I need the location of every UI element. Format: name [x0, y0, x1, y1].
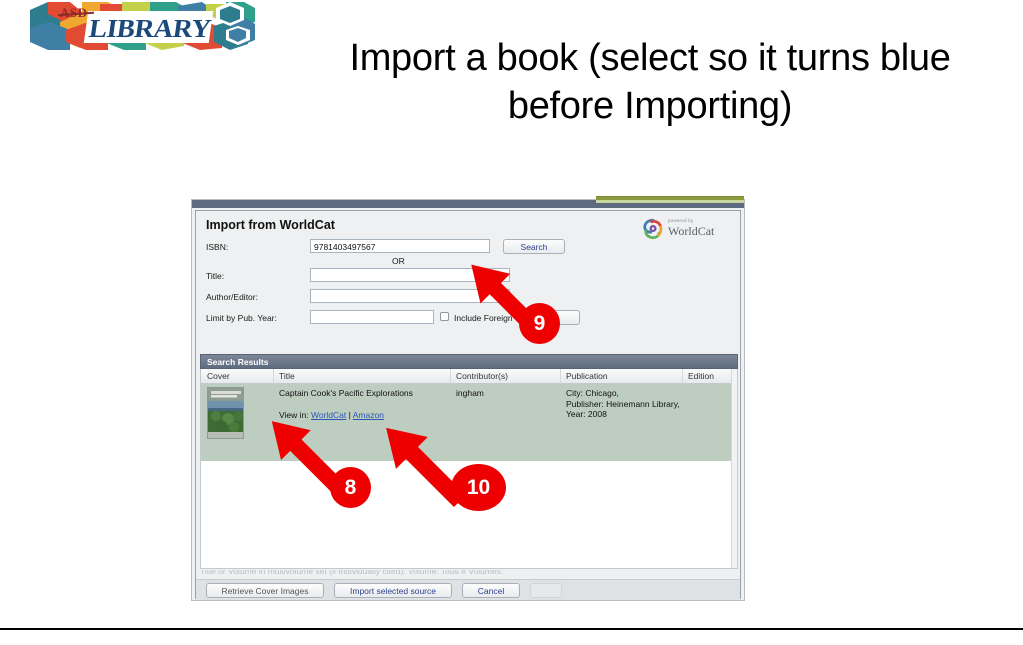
column-header-publication: Publication: [566, 371, 608, 381]
worldcat-name: WorldCat: [668, 224, 714, 239]
or-divider-text: OR: [392, 256, 405, 266]
result-view-in: View in: WorldCat | Amazon: [279, 410, 384, 420]
browser-chrome-strip: [192, 200, 744, 208]
callout-arrow-10: [352, 493, 482, 588]
column-divider: [560, 369, 561, 384]
amazon-link[interactable]: Amazon: [353, 410, 384, 420]
column-header-cover: Cover: [207, 371, 230, 381]
dialog-title: Import from WorldCat: [206, 218, 335, 232]
callout-8: 8: [330, 467, 371, 508]
result-title: Captain Cook's Pacific Explorations: [279, 388, 413, 398]
worldcat-logo: powered by WorldCat: [642, 216, 734, 242]
asd-library-logo: LIBRARY ASD: [30, 2, 255, 50]
pub-year-label: Limit by Pub. Year:: [206, 313, 277, 323]
result-publication: City: Chicago, Publisher: Heinemann Libr…: [566, 388, 680, 420]
column-divider: [682, 369, 683, 384]
logo-wordmark-text: LIBRARY: [87, 14, 212, 44]
page-title: Import a book (select so it turns blue b…: [300, 34, 1000, 131]
callout-9: 9: [519, 303, 560, 344]
link-separator: |: [349, 410, 351, 420]
results-scrollbar[interactable]: [731, 369, 737, 568]
slide-footer-rule: [0, 628, 1023, 630]
column-header-title: Title: [279, 371, 295, 381]
column-divider: [273, 369, 274, 384]
view-in-label: View in:: [279, 410, 309, 420]
worldcat-link[interactable]: WorldCat: [311, 410, 346, 420]
worldcat-powered-by: powered by: [668, 218, 693, 223]
chrome-accent-bar-light: [596, 200, 744, 203]
publication-city: City: Chicago,: [566, 388, 680, 399]
column-header-edition: Edition: [688, 371, 714, 381]
title-label: Title:: [206, 271, 224, 281]
publication-publisher: Publisher: Heinemann Library,: [566, 399, 680, 410]
author-label: Author/Editor:: [206, 292, 258, 302]
book-cover-thumbnail[interactable]: [207, 387, 244, 439]
footer-extra-button[interactable]: [530, 583, 562, 598]
publication-year: Year: 2008: [566, 409, 680, 420]
callout-10: 10: [451, 464, 506, 511]
worldcat-swirl-icon: [642, 218, 664, 240]
pub-year-input[interactable]: [310, 310, 434, 324]
logo-acronym: ASD: [60, 5, 88, 21]
isbn-label: ISBN:: [206, 242, 228, 252]
search-button[interactable]: Search: [503, 239, 565, 254]
isbn-input[interactable]: 9781403497567: [310, 239, 490, 253]
